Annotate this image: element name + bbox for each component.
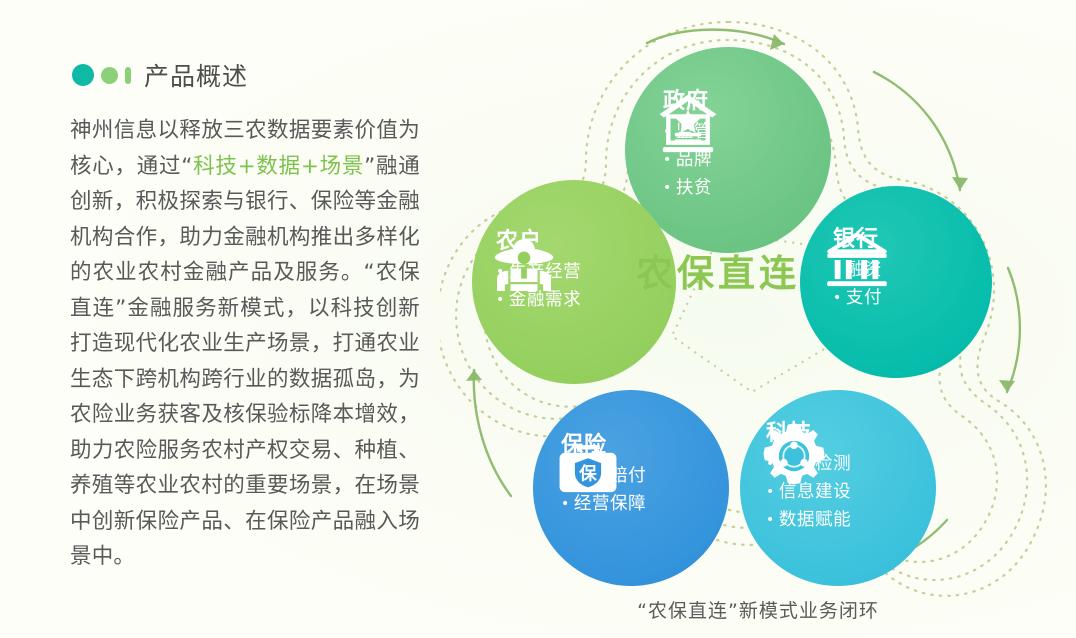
dot-medium-green-icon	[101, 67, 118, 84]
node-government-item-2: 扶贫	[663, 174, 712, 202]
overview-paragraph: 神州信息以释放三农数据要素价值为核心，通过“科技+数据+场景”融通创新，积极探索…	[70, 113, 420, 575]
diagram-center-label: 农保直连	[632, 252, 804, 296]
node-bank-content: 银行 融资 支付	[823, 226, 995, 312]
paragraph-highlight: 科技+数据+场景	[193, 154, 365, 179]
node-technology-content: 科技 科技检测 信息建设 数据赋能	[758, 420, 948, 535]
node-technology-item-2: 数据赋能	[766, 506, 851, 534]
diagram-caption: “农保直连”新模式业务闭环	[440, 596, 1076, 623]
arrow-insurance-to-farmer	[474, 370, 511, 496]
svg-text:保: 保	[578, 464, 597, 485]
page-title: 产品概述	[144, 57, 248, 93]
text-panel: 产品概述 神州信息以释放三农数据要素价值为核心，通过“科技+数据+场景”融通创新…	[0, 0, 452, 638]
arrow-government-to-bank	[874, 72, 960, 190]
node-government-content: 政府 监管 品牌 扶贫	[653, 88, 833, 203]
paragraph-part-2: ”融通创新，积极探索与银行、保险等金融机构合作，助力金融机构推出多样化的农业农村…	[70, 154, 420, 570]
node-insurance-content: 保 保险 巨灾赔付 经营保障	[553, 432, 733, 518]
infographic-page: 产品概述 神州信息以释放三农数据要素价值为核心，通过“科技+数据+场景”融通创新…	[0, 0, 1076, 638]
business-loop-diagram: 政府 监管 品牌 扶贫 银行 融	[440, 0, 1076, 638]
arrow-farmer-to-government	[647, 30, 784, 44]
dot-large-teal-icon	[72, 64, 94, 86]
bar-small-green-icon	[125, 67, 131, 84]
arrow-bank-to-technology	[1007, 268, 1020, 392]
section-heading: 产品概述	[72, 57, 248, 93]
